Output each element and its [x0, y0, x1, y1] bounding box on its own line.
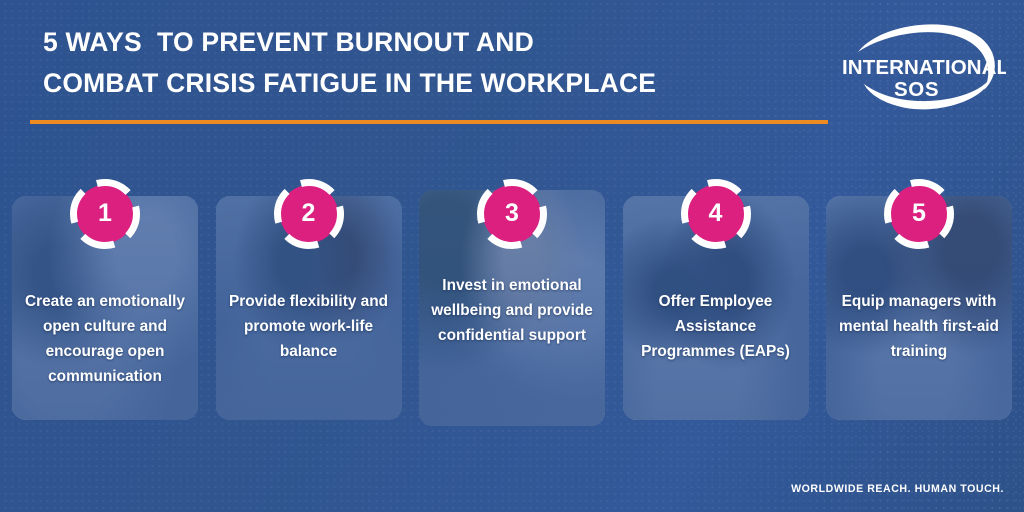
tip-card-text-2: Provide flexibility and promote work-lif… — [226, 290, 392, 365]
svg-text:INTERNATIONAL: INTERNATIONAL — [842, 56, 1006, 79]
header: 5 WAYS TO PREVENT BURNOUT AND COMBAT CRI… — [0, 0, 1024, 132]
infographic-canvas: 5 WAYS TO PREVENT BURNOUT AND COMBAT CRI… — [0, 0, 1024, 512]
step-badge-5: 5 — [881, 176, 957, 252]
tips-card-row: Create an emotionally open culture and e… — [0, 188, 1024, 444]
tip-card-3[interactable]: Invest in emotional wellbeing and provid… — [419, 188, 605, 426]
tip-card-5[interactable]: Equip managers with mental health first-… — [826, 188, 1012, 420]
svg-text:SOS: SOS — [894, 78, 939, 101]
brand-logo: INTERNATIONAL SOS — [836, 16, 1006, 114]
tip-card-2[interactable]: Provide flexibility and promote work-lif… — [216, 188, 402, 420]
tip-card-text-4: Offer Employee Assistance Programmes (EA… — [633, 290, 799, 365]
step-badge-number-5: 5 — [881, 176, 957, 252]
step-badge-number-3: 3 — [474, 176, 550, 252]
step-badge-number-2: 2 — [271, 176, 347, 252]
page-title: 5 WAYS TO PREVENT BURNOUT AND COMBAT CRI… — [43, 22, 803, 103]
step-badge-number-1: 1 — [67, 176, 143, 252]
step-badge-number-4: 4 — [678, 176, 754, 252]
step-badge-4: 4 — [678, 176, 754, 252]
accent-divider — [30, 120, 828, 124]
tip-card-4[interactable]: Offer Employee Assistance Programmes (EA… — [623, 188, 809, 420]
tip-card-1[interactable]: Create an emotionally open culture and e… — [12, 188, 198, 420]
tip-card-text-3: Invest in emotional wellbeing and provid… — [429, 274, 595, 349]
step-badge-3: 3 — [474, 176, 550, 252]
tip-card-text-1: Create an emotionally open culture and e… — [22, 290, 188, 390]
step-badge-2: 2 — [271, 176, 347, 252]
tip-card-text-5: Equip managers with mental health first-… — [836, 290, 1002, 365]
step-badge-1: 1 — [67, 176, 143, 252]
footer-tagline: WORLDWIDE REACH. HUMAN TOUCH. — [791, 483, 1004, 495]
